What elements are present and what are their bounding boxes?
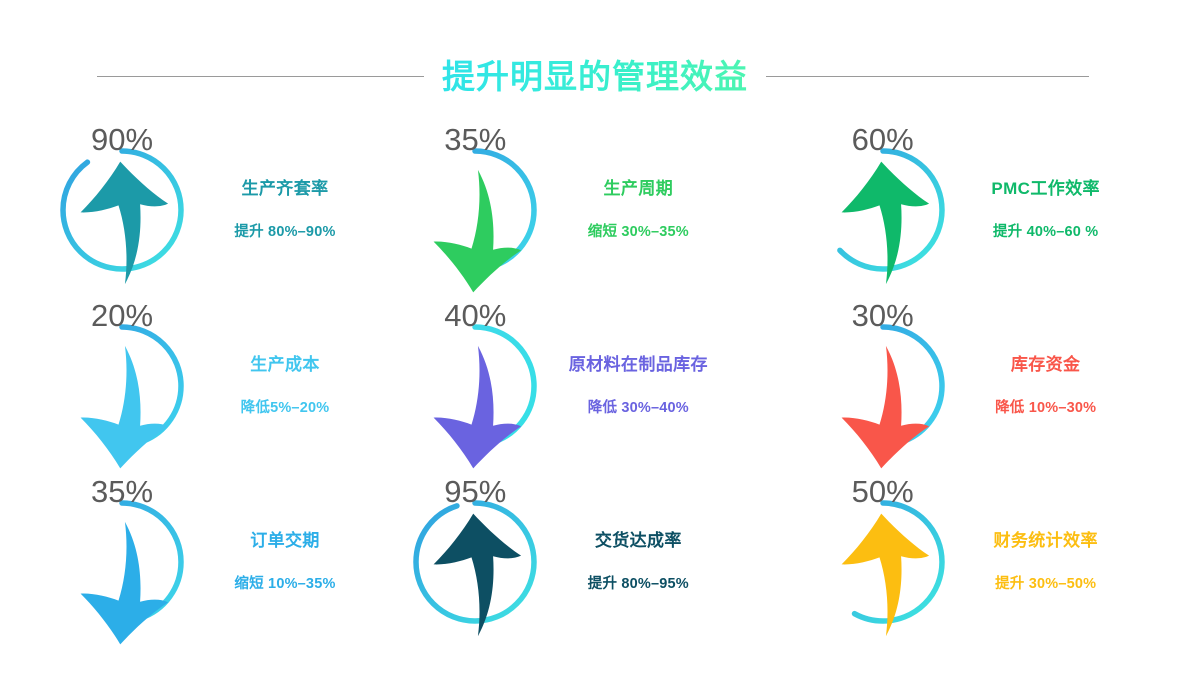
donut-chart: 40% bbox=[405, 316, 545, 456]
metric-detail: 降低 10%–30% bbox=[995, 401, 1096, 416]
donut-chart: 35% bbox=[52, 492, 192, 632]
metric-detail: 降低5%–20% bbox=[241, 401, 330, 416]
metrics-grid: 90% 生产齐套率 提升 80%–90% 35% bbox=[0, 122, 1186, 662]
metric-card[interactable]: 50% 财务统计效率 提升 30%–50% bbox=[791, 474, 1186, 650]
donut-svg bbox=[52, 492, 192, 632]
metric-labels: 生产成本 降低5%–20% bbox=[210, 356, 360, 416]
metric-title: 生产周期 bbox=[604, 180, 674, 197]
metric-card[interactable]: 60% PMC工作效率 提升 40%–60 % bbox=[791, 122, 1186, 298]
metric-title: 库存资金 bbox=[1011, 356, 1081, 373]
donut-svg bbox=[813, 316, 953, 456]
page-header: 提升明显的管理效益 bbox=[0, 48, 1186, 104]
donut-svg bbox=[813, 492, 953, 632]
metric-title: 财务统计效率 bbox=[993, 532, 1097, 549]
metric-labels: 交货达成率 提升 80%–95% bbox=[563, 532, 713, 592]
metric-title: 原材料在制品库存 bbox=[569, 356, 708, 373]
donut-chart: 60% bbox=[813, 140, 953, 280]
donut-chart: 35% bbox=[405, 140, 545, 280]
metric-detail: 降低 30%–40% bbox=[588, 401, 689, 416]
metric-card[interactable]: 30% 库存资金 降低 10%–30% bbox=[791, 298, 1186, 474]
donut-svg bbox=[813, 140, 953, 280]
metric-card[interactable]: 95% 交货达成率 提升 80%–95% bbox=[395, 474, 790, 650]
donut-arc bbox=[824, 151, 942, 269]
metric-labels: 库存资金 降低 10%–30% bbox=[971, 356, 1121, 416]
metric-labels: 生产齐套率 提升 80%–90% bbox=[210, 180, 360, 240]
donut-chart: 95% bbox=[405, 492, 545, 632]
metric-labels: PMC工作效率 提升 40%–60 % bbox=[971, 180, 1121, 240]
header-rule-left bbox=[97, 76, 424, 77]
metric-card[interactable]: 90% 生产齐套率 提升 80%–90% bbox=[0, 122, 395, 298]
donut-arc bbox=[416, 151, 534, 269]
donut-arc bbox=[416, 327, 534, 445]
page-title: 提升明显的管理效益 bbox=[442, 56, 748, 97]
metric-detail: 提升 40%–60 % bbox=[993, 225, 1098, 240]
metric-labels: 订单交期 缩短 10%–35% bbox=[210, 532, 360, 592]
metric-labels: 生产周期 缩短 30%–35% bbox=[563, 180, 713, 240]
donut-arc bbox=[63, 503, 181, 621]
donut-arc bbox=[63, 327, 181, 445]
metric-labels: 财务统计效率 提升 30%–50% bbox=[971, 532, 1121, 592]
donut-svg bbox=[52, 316, 192, 456]
metric-title: 生产成本 bbox=[250, 356, 320, 373]
metric-detail: 提升 80%–90% bbox=[234, 225, 335, 240]
metric-labels: 原材料在制品库存 降低 30%–40% bbox=[563, 356, 713, 416]
metric-detail: 提升 30%–50% bbox=[995, 577, 1096, 592]
metric-card[interactable]: 40% 原材料在制品库存 降低 30%–40% bbox=[395, 298, 790, 474]
donut-chart: 90% bbox=[52, 140, 192, 280]
metric-title: 交货达成率 bbox=[595, 532, 682, 549]
donut-arc bbox=[824, 327, 942, 445]
donut-arc bbox=[824, 503, 942, 621]
metric-detail: 缩短 30%–35% bbox=[588, 225, 689, 240]
donut-svg bbox=[405, 492, 545, 632]
metric-detail: 提升 80%–95% bbox=[588, 577, 689, 592]
donut-chart: 30% bbox=[813, 316, 953, 456]
donut-svg bbox=[405, 316, 545, 456]
metric-card[interactable]: 20% 生产成本 降低5%–20% bbox=[0, 298, 395, 474]
metric-detail: 缩短 10%–35% bbox=[234, 577, 335, 592]
donut-chart: 50% bbox=[813, 492, 953, 632]
metric-card[interactable]: 35% 生产周期 缩短 30%–35% bbox=[395, 122, 790, 298]
donut-arc bbox=[63, 151, 181, 269]
metric-card[interactable]: 35% 订单交期 缩短 10%–35% bbox=[0, 474, 395, 650]
header-rule-right bbox=[766, 76, 1089, 77]
donut-arc bbox=[416, 503, 534, 621]
metric-title: 订单交期 bbox=[250, 532, 320, 549]
donut-chart: 20% bbox=[52, 316, 192, 456]
metric-title: PMC工作效率 bbox=[991, 180, 1100, 197]
donut-svg bbox=[405, 140, 545, 280]
donut-svg bbox=[52, 140, 192, 280]
metric-title: 生产齐套率 bbox=[242, 180, 329, 197]
